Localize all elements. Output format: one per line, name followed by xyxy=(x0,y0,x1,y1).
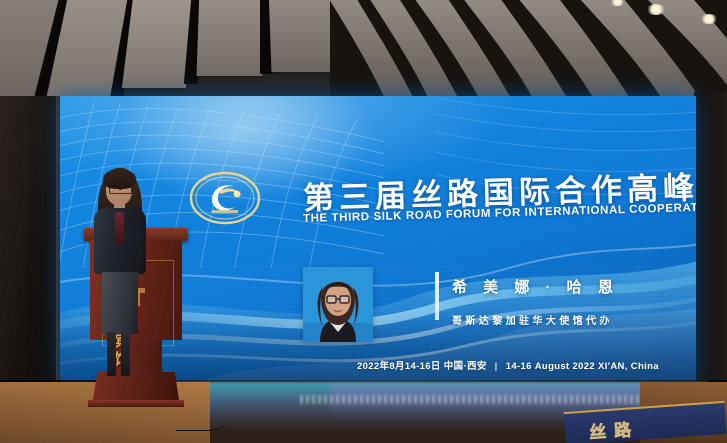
floor-cable xyxy=(176,400,228,431)
right-wall xyxy=(694,92,727,382)
silk-road-forum-emblem-icon xyxy=(188,170,262,226)
portrait-figure-icon xyxy=(303,267,373,342)
dateline-chinese: 2022年8月14-16日 中国·西安 xyxy=(357,361,487,372)
speaker-glasses-icon xyxy=(109,186,132,194)
podium-base-lip xyxy=(88,400,184,407)
floor-banner-text: 丝路 xyxy=(588,415,640,443)
speaker-name: 希 美 娜 · 哈 恩 xyxy=(452,276,619,297)
reflected-dateline-blur xyxy=(300,395,660,404)
ceiling-panel xyxy=(196,0,265,76)
dateline-english: 14-16 August 2022 XI'AN, China xyxy=(506,361,659,372)
event-dateline: 2022年8月14-16日 中国·西安 | 14-16 August 2022 … xyxy=(357,358,659,372)
speaker-role: 哥斯达黎加驻华大使馆代办 xyxy=(452,312,613,327)
conference-hall-photo: 第三届丝路国际合作高峰论坛 THE THIRD SILK ROAD FORUM … xyxy=(0,0,727,443)
ceiling-downlight xyxy=(646,4,666,15)
speaker-leg xyxy=(107,332,116,376)
dateline-separator: | xyxy=(490,361,503,372)
speaker-leg xyxy=(121,332,130,376)
speaker-name-divider xyxy=(435,272,439,320)
speaker-portrait-photo xyxy=(303,267,373,342)
speaker-skirt xyxy=(102,272,138,334)
female-speaker xyxy=(88,168,152,398)
ceiling-panel xyxy=(269,0,340,72)
ceiling-downlight xyxy=(700,14,718,24)
speaker-scarf xyxy=(115,212,124,244)
